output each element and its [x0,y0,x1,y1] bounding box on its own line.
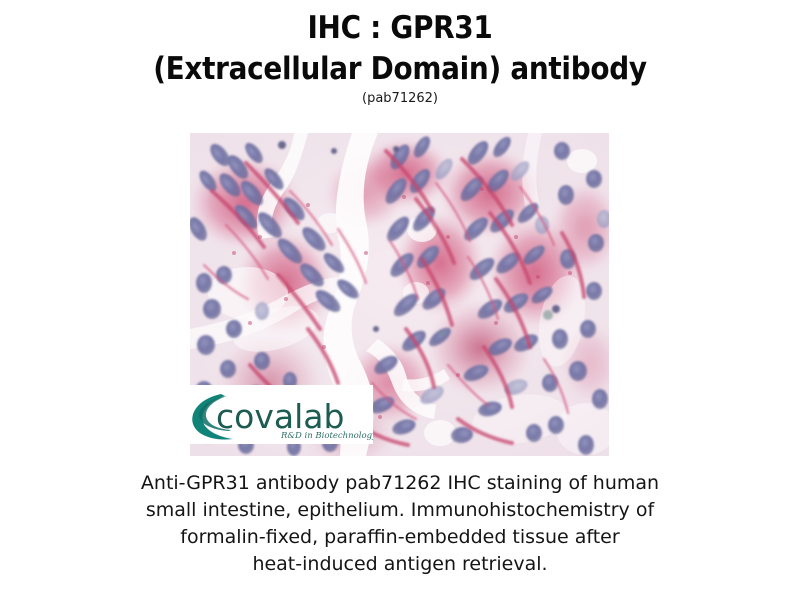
covalab-logo: covalab R&D in Biotechnology [185,385,373,444]
figure-page: IHC : GPR31 (Extracellular Domain) antib… [0,0,800,600]
caption-line-3: formalin-fixed, paraffin-embedded tissue… [70,524,730,551]
caption-line-2: small intestine, epithelium. Immunohisto… [70,497,730,524]
page-title-line-2: (Extracellular Domain) antibody [0,49,800,89]
title-block: IHC : GPR31 (Extracellular Domain) antib… [0,0,800,107]
figure-caption: Anti-GPR31 antibody pab71262 IHC stainin… [70,470,730,578]
caption-line-1: Anti-GPR31 antibody pab71262 IHC stainin… [70,470,730,497]
covalab-tagline: R&D in Biotechnology [280,431,373,441]
page-title-line-1: IHC : GPR31 [0,8,800,48]
ihc-figure: covalab R&D in Biotechnology [190,133,609,456]
covalab-watermark: covalab R&D in Biotechnology [185,385,373,444]
caption-line-4: heat-induced antigen retrieval. [70,551,730,578]
catalog-number: (pab71262) [0,91,800,107]
